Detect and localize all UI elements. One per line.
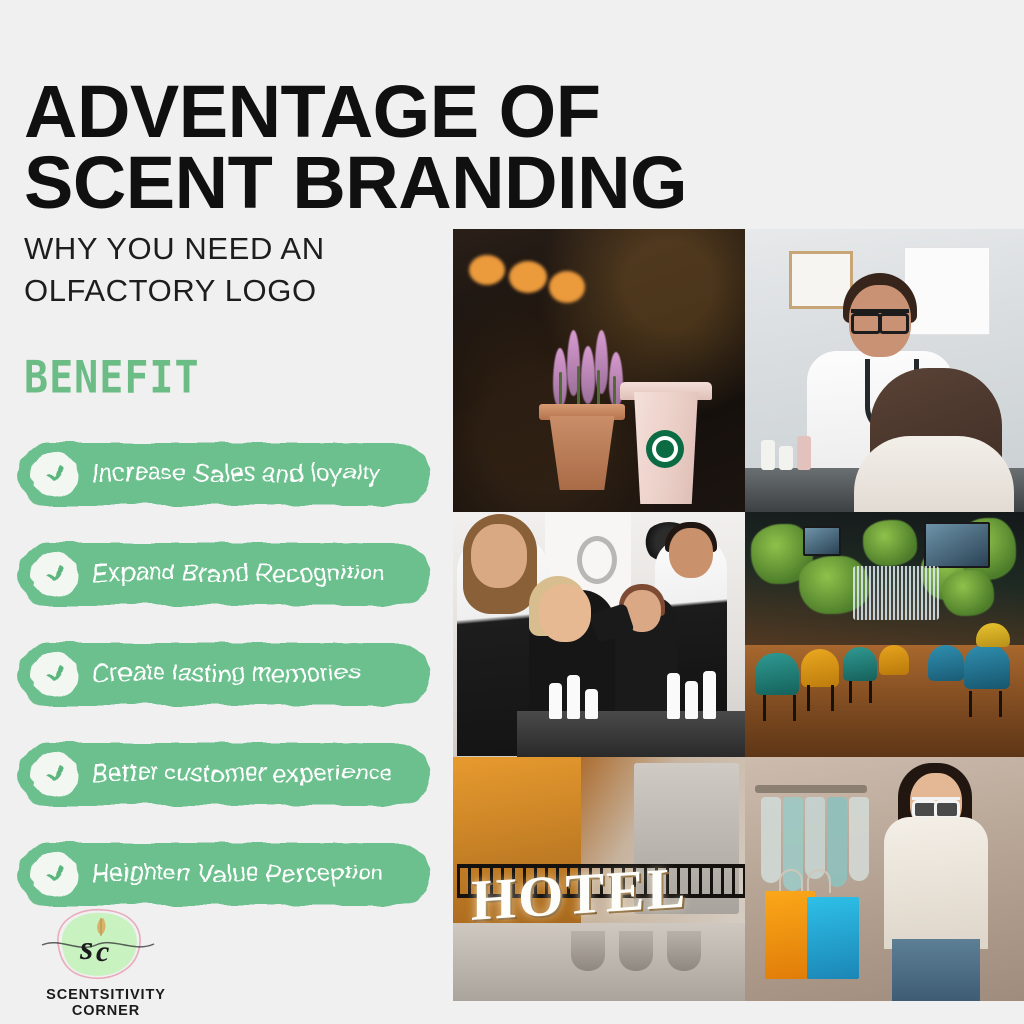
benefit-item-5[interactable]: Heighten Value Perception: [18, 843, 430, 905]
check-icon: [32, 651, 78, 697]
benefit-item-label: Create lasting memories: [92, 660, 360, 688]
brand-logo[interactable]: s c SCENTSITIVITY CORNER: [16, 905, 236, 1019]
hair-salon-photo: [453, 512, 745, 757]
image-gallery: HOTEL: [453, 229, 1024, 1001]
check-icon: [32, 551, 78, 597]
benefit-item-4[interactable]: Better customer experience: [18, 743, 430, 805]
title-line-2: SCENT BRANDING: [24, 147, 894, 218]
retail-photo: [745, 757, 1024, 1001]
coffee-shop-photo: [453, 229, 745, 512]
svg-text:s: s: [79, 930, 93, 967]
subtitle: WHY YOU NEED AN OLFACTORY LOGO: [24, 228, 424, 312]
left-content-column: ADVENTAGE OF SCENT BRANDING WHY YOU NEED…: [0, 0, 452, 1024]
poster-canvas: ADVENTAGE OF SCENT BRANDING WHY YOU NEED…: [0, 0, 1024, 1024]
logo-mark-icon: s c: [38, 905, 158, 983]
benefit-item-label: Increase Sales and loyalty: [92, 460, 381, 488]
clinic-photo: [745, 229, 1024, 512]
subtitle-line-2: OLFACTORY LOGO: [24, 270, 424, 312]
page-title: ADVENTAGE OF SCENT BRANDING: [24, 76, 894, 218]
benefit-item-label: Better customer experience: [92, 760, 394, 788]
hotel-photo: HOTEL: [453, 757, 745, 1001]
check-icon: [32, 751, 78, 797]
brand-name: SCENTSITIVITY CORNER: [16, 987, 196, 1019]
svg-text:c: c: [96, 935, 109, 968]
benefit-section-label: BENEFIT: [24, 352, 200, 404]
benefit-list: Increase Sales and loyalty Expand Brand …: [18, 443, 430, 905]
benefit-item-2[interactable]: Expand Brand Recognition: [18, 543, 430, 605]
check-icon: [32, 851, 78, 897]
restaurant-photo: [745, 512, 1024, 757]
hotel-sign-text: HOTEL: [471, 857, 728, 931]
check-icon: [32, 451, 78, 497]
benefit-item-label: Expand Brand Recognition: [92, 560, 386, 588]
benefit-item-3[interactable]: Create lasting memories: [18, 643, 430, 705]
benefit-item-1[interactable]: Increase Sales and loyalty: [18, 443, 430, 505]
subtitle-line-1: WHY YOU NEED AN: [24, 228, 424, 270]
benefit-item-label: Heighten Value Perception: [92, 860, 384, 888]
